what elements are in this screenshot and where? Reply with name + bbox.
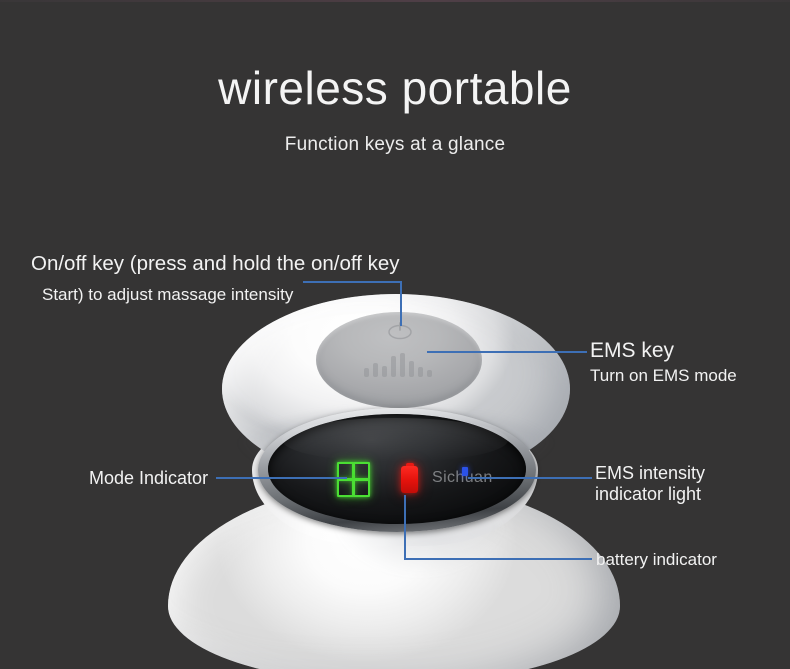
callout-battery-indicator: battery indicator	[596, 549, 717, 572]
page-title: wireless portable	[0, 63, 790, 114]
callout-ems-key-subtitle: Turn on EMS mode	[590, 365, 737, 388]
leader-line-battery-vertical	[404, 495, 406, 560]
callout-mode-indicator: Mode Indicator	[89, 466, 208, 490]
page-subtitle: Function keys at a glance	[0, 134, 790, 156]
leader-line-ems-intensity	[468, 477, 592, 479]
callout-ems-key-title: EMS key	[590, 337, 674, 365]
callout-onoff-line2: Start) to adjust massage intensity	[42, 284, 293, 307]
callout-onoff-line1: On/off key (press and hold the on/off ke…	[31, 250, 399, 278]
mode-segment	[337, 479, 354, 497]
top-edge-highlight	[0, 0, 790, 2]
leader-line-battery-horizontal	[404, 558, 592, 560]
ems-indicator-dot-icon	[462, 467, 468, 476]
battery-cell	[401, 466, 418, 493]
callout-ems-intensity: EMS intensity indicator light	[595, 463, 775, 505]
screen-glare	[282, 418, 508, 462]
battery-icon	[401, 463, 418, 493]
mode-segment	[353, 462, 370, 480]
leader-line-ems-key	[427, 351, 587, 353]
mode-segment	[353, 479, 370, 497]
leader-line-onoff-vertical	[400, 281, 402, 326]
leader-line-onoff-horizontal	[303, 281, 402, 283]
ems-waveform-icon[interactable]	[362, 352, 438, 380]
leader-line-mode-indicator	[216, 477, 347, 479]
infographic-canvas: wireless portable Function keys at a gla…	[0, 0, 790, 669]
